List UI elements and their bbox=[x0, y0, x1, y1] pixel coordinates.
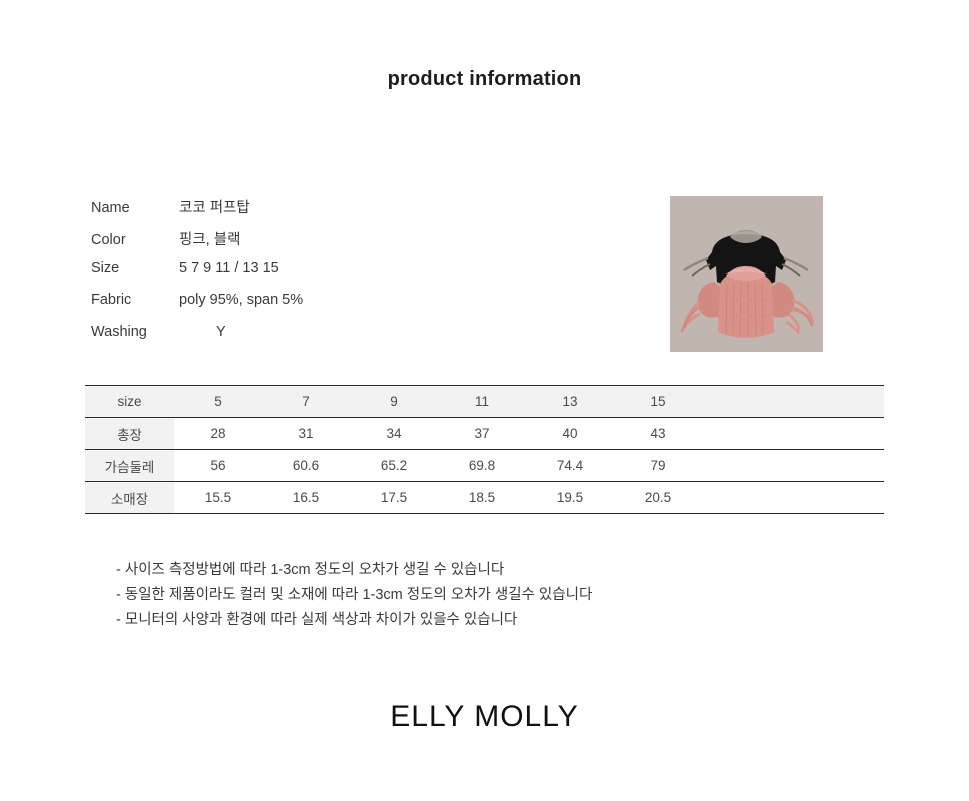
cell-chest-13: 74.4 bbox=[526, 450, 614, 482]
page-title: product information bbox=[0, 68, 969, 91]
note-line-measurement: - 사이즈 측정방법에 따라 1-3cm 정도의 오차가 생길 수 있습니다 bbox=[116, 558, 876, 583]
note-line-material: - 동일한 제품이라도 컬러 및 소재에 따라 1-3cm 정도의 오차가 생길… bbox=[116, 583, 876, 608]
size-table-container: size 5 7 9 11 13 15 총장 28 31 34 37 40 43 bbox=[85, 385, 884, 514]
spec-label-washing: Washing bbox=[91, 324, 179, 340]
spec-row-washing: Washing Y bbox=[91, 324, 421, 356]
cell-total-length-13: 40 bbox=[526, 418, 614, 450]
cell-chest-empty bbox=[702, 450, 884, 482]
product-photo-image bbox=[670, 196, 823, 352]
table-header-13: 13 bbox=[526, 386, 614, 418]
row-label-chest: 가슴둘레 bbox=[85, 450, 174, 482]
cell-chest-5: 56 bbox=[174, 450, 262, 482]
cell-total-length-empty bbox=[702, 418, 884, 450]
spec-value-fabric: poly 95%, span 5% bbox=[179, 292, 303, 308]
note-line-monitor: - 모니터의 사양과 환경에 따라 실제 색상과 차이가 있을수 있습니다 bbox=[116, 608, 876, 633]
cell-sleeve-9: 17.5 bbox=[350, 482, 438, 514]
cell-total-length-11: 37 bbox=[438, 418, 526, 450]
cell-chest-9: 65.2 bbox=[350, 450, 438, 482]
table-header-5: 5 bbox=[174, 386, 262, 418]
spec-label-fabric: Fabric bbox=[91, 292, 179, 308]
spec-row-name: Name 코코 퍼프탑 bbox=[91, 196, 421, 228]
row-label-sleeve: 소매장 bbox=[85, 482, 174, 514]
cell-total-length-5: 28 bbox=[174, 418, 262, 450]
table-row: 소매장 15.5 16.5 17.5 18.5 19.5 20.5 bbox=[85, 482, 884, 514]
table-header-size: size bbox=[85, 386, 174, 418]
cell-chest-7: 60.6 bbox=[262, 450, 350, 482]
spec-row-size: Size 5 7 9 11 / 13 15 bbox=[91, 260, 421, 292]
table-row: 총장 28 31 34 37 40 43 bbox=[85, 418, 884, 450]
spec-value-washing: Y bbox=[179, 324, 226, 340]
cell-sleeve-11: 18.5 bbox=[438, 482, 526, 514]
spec-label-color: Color bbox=[91, 232, 179, 248]
notes-list: - 사이즈 측정방법에 따라 1-3cm 정도의 오차가 생길 수 있습니다 -… bbox=[116, 558, 876, 633]
spec-value-color: 핑크, 블랙 bbox=[179, 228, 240, 249]
size-table: size 5 7 9 11 13 15 총장 28 31 34 37 40 43 bbox=[85, 385, 884, 514]
table-header-row: size 5 7 9 11 13 15 bbox=[85, 386, 884, 418]
table-header-9: 9 bbox=[350, 386, 438, 418]
spec-label-size: Size bbox=[91, 260, 179, 276]
product-spec-list: Name 코코 퍼프탑 Color 핑크, 블랙 Size 5 7 9 11 /… bbox=[91, 196, 421, 356]
table-header-empty bbox=[702, 386, 884, 418]
cell-sleeve-empty bbox=[702, 482, 884, 514]
cell-sleeve-15: 20.5 bbox=[614, 482, 702, 514]
table-header-15: 15 bbox=[614, 386, 702, 418]
cell-chest-15: 79 bbox=[614, 450, 702, 482]
table-row: 가슴둘레 56 60.6 65.2 69.8 74.4 79 bbox=[85, 450, 884, 482]
cell-chest-11: 69.8 bbox=[438, 450, 526, 482]
cell-sleeve-7: 16.5 bbox=[262, 482, 350, 514]
spec-label-name: Name bbox=[91, 200, 179, 216]
cell-total-length-15: 43 bbox=[614, 418, 702, 450]
cell-sleeve-5: 15.5 bbox=[174, 482, 262, 514]
spec-value-size: 5 7 9 11 / 13 15 bbox=[179, 260, 279, 276]
table-header-11: 11 bbox=[438, 386, 526, 418]
table-header-7: 7 bbox=[262, 386, 350, 418]
spec-value-name: 코코 퍼프탑 bbox=[179, 196, 250, 217]
cell-total-length-9: 34 bbox=[350, 418, 438, 450]
cell-total-length-7: 31 bbox=[262, 418, 350, 450]
brand-logo: ELLY MOLLY bbox=[0, 700, 969, 734]
row-label-total-length: 총장 bbox=[85, 418, 174, 450]
product-photo bbox=[670, 196, 823, 352]
cell-sleeve-13: 19.5 bbox=[526, 482, 614, 514]
spec-row-color: Color 핑크, 블랙 bbox=[91, 228, 421, 260]
spec-row-fabric: Fabric poly 95%, span 5% bbox=[91, 292, 421, 324]
